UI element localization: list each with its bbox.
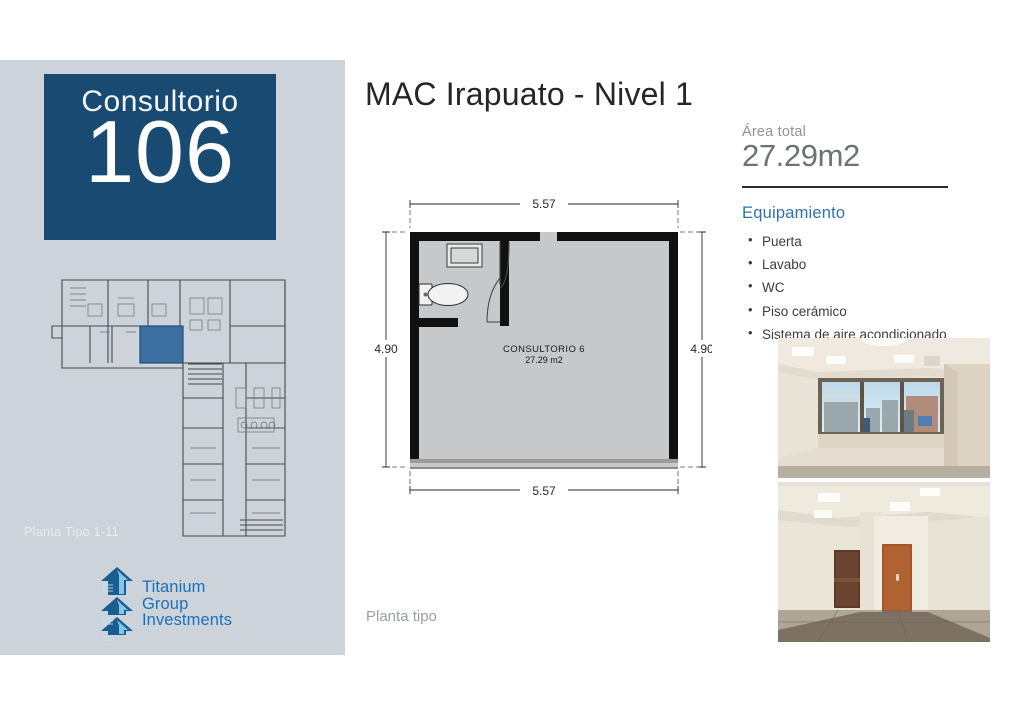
interior-photo-windows	[778, 338, 990, 478]
unit-badge: Consultorio 106	[44, 74, 276, 240]
equipment-list: Puerta Lavabo WC Piso cerámico Sistema d…	[742, 230, 992, 346]
dim-top-label: 5.57	[532, 197, 556, 211]
interior-photo-doors	[778, 482, 990, 642]
logo-line-3: Investments	[142, 612, 232, 629]
list-item: Piso cerámico	[742, 300, 992, 323]
dim-left-label: 4.90	[374, 342, 398, 356]
dim-right-label: 4.90	[690, 342, 712, 356]
divider	[742, 186, 948, 188]
list-item: Lavabo	[742, 253, 992, 276]
logo-line-2: Group	[142, 596, 232, 613]
details-panel: Área total 27.29m2 Equipamiento Puerta L…	[742, 124, 992, 346]
company-logo: Titanium Group Investments	[100, 565, 232, 643]
room-name-label: CONSULTORIO 6	[503, 344, 585, 355]
logo-wordmark: Titanium Group Investments	[142, 579, 232, 629]
list-item: Puerta	[742, 230, 992, 253]
logo-line-1: Titanium	[142, 579, 232, 596]
floor-plan-drawing: 5.57 5.57 4.90 4.90 CONSULTORIO 6 27.29 …	[372, 192, 712, 502]
sidebar: Consultorio 106	[0, 60, 345, 655]
equipment-title: Equipamiento	[742, 204, 992, 223]
keyplan-label: Planta Tipo 1-11	[24, 525, 119, 539]
keyplan-highlight-unit	[140, 326, 183, 363]
brochure-page: Consultorio 106	[0, 0, 1024, 724]
room-area-label: 27.29 m2	[525, 355, 563, 365]
list-item: WC	[742, 276, 992, 299]
unit-badge-number: 106	[85, 112, 235, 193]
dim-bottom-label: 5.57	[532, 484, 556, 498]
keyplan-diagram	[40, 268, 305, 548]
area-total-value: 27.29m2	[742, 138, 992, 174]
page-title: MAC Irapuato - Nivel 1	[365, 76, 693, 113]
plan-caption: Planta tipo	[366, 608, 437, 625]
titanium-chevron-icon	[100, 565, 136, 643]
